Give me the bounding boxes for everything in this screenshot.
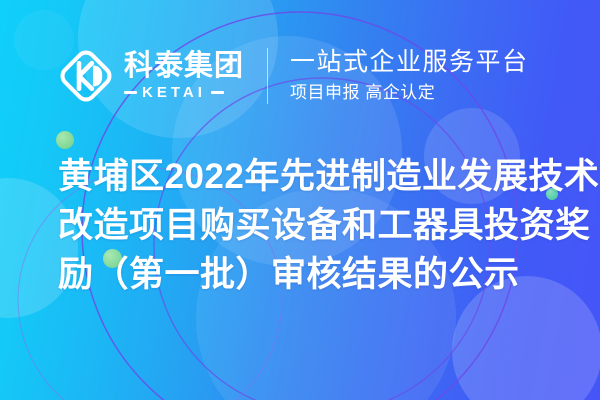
- brand-name-cn: 科泰集团: [124, 52, 244, 81]
- accent-dot-icon: [56, 131, 74, 149]
- title-line-2: 改造项目购买设备和工器具投资奖: [58, 201, 578, 250]
- title-line-1: 黄埔区2022年先进制造业发展技术: [58, 152, 578, 201]
- rule-right-icon: [211, 91, 224, 94]
- announcement-title: 黄埔区2022年先进制造业发展技术 改造项目购买设备和工器具投资奖 励（第一批）…: [58, 152, 578, 299]
- rule-left-icon: [124, 91, 137, 94]
- header-divider: [267, 48, 268, 104]
- banner-header: 科泰集团 KETAI 一站式企业服务平台 项目申报 高企认定: [0, 40, 600, 112]
- announcement-banner: 科泰集团 KETAI 一站式企业服务平台 项目申报 高企认定 黄埔区2022年先…: [0, 0, 600, 400]
- title-line-3: 励（第一批）审核结果的公示: [58, 250, 578, 299]
- brand-name-en-row: KETAI: [124, 85, 244, 100]
- brand-logo[interactable]: 科泰集团 KETAI: [57, 47, 244, 105]
- brand-name-en: KETAI: [142, 85, 206, 100]
- tagline-main: 一站式企业服务平台: [290, 48, 529, 77]
- tagline-sub: 项目申报 高企认定: [290, 83, 529, 103]
- brand-wordmark: 科泰集团 KETAI: [124, 52, 244, 100]
- brand-tagline: 一站式企业服务平台 项目申报 高企认定: [290, 48, 529, 103]
- ketai-diamond-monogram-icon: [57, 47, 115, 105]
